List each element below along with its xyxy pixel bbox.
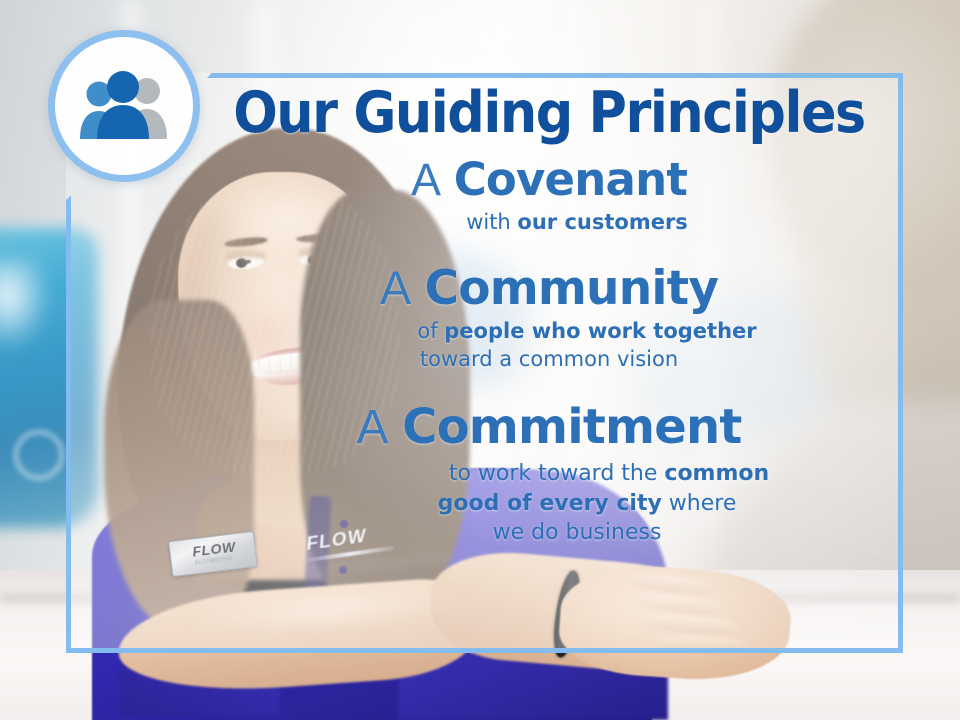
principle-subtext-line: to work toward the common [260,459,958,489]
subtext-regular: where [662,491,737,516]
principle-subtext-line: we do business [228,518,926,548]
principle-article: A [411,154,440,205]
frame-border-bottom [66,648,903,653]
subtext-regular: with [466,210,517,234]
page-title: Our Guiding Principles [228,84,870,142]
principle-subtext-line: toward a common vision [200,346,898,374]
principle-subtext-line: with our customers [228,209,926,237]
subtext-regular: toward a common vision [420,347,678,371]
principle-heading: A Commitment [200,402,898,454]
principle-keyword: Covenant [454,153,687,206]
principle-article: A [356,401,387,454]
frame-border-right [898,73,903,653]
principles-text-block: Our Guiding Principles A Covenant with o… [200,84,898,548]
frame-border-top [215,73,903,78]
principle-subtext: with our customers [200,209,898,237]
subtext-regular: of [417,319,444,343]
principle-heading: A Covenant [200,156,898,204]
subtext-bold: our customers [517,210,687,234]
principle-subtext: to work toward the common good of every … [200,459,898,549]
principle-commitment: A Commitment to work toward the common g… [200,402,898,549]
principle-keyword: Commitment [402,399,741,455]
subtext-regular: to work toward the [449,461,665,486]
principle-subtext: of people who work together toward a com… [200,318,898,373]
principle-subtext-line: of people who work together [238,318,936,346]
principle-covenant: A Covenant with our customers [200,156,898,236]
frame-border-left [66,208,71,653]
subtext-bold: people who work together [444,319,756,343]
subtext-regular: we do business [493,520,662,545]
principle-subtext-line: good of every city where [238,489,936,519]
car-highlight [0,260,50,350]
principle-article: A [380,261,411,314]
people-group-icon [72,71,176,141]
principle-keyword: Community [425,261,719,316]
vw-emblem [14,430,64,480]
subtext-bold: common [664,461,769,486]
subtext-bold: good of every city [438,491,662,516]
guiding-principles-graphic: FLOW FLOW AUTOMOTIVE [0,0,960,720]
principle-community: A Community of people who work together … [200,263,898,374]
principle-heading: A Community [200,263,898,314]
people-icon-badge [48,30,200,182]
